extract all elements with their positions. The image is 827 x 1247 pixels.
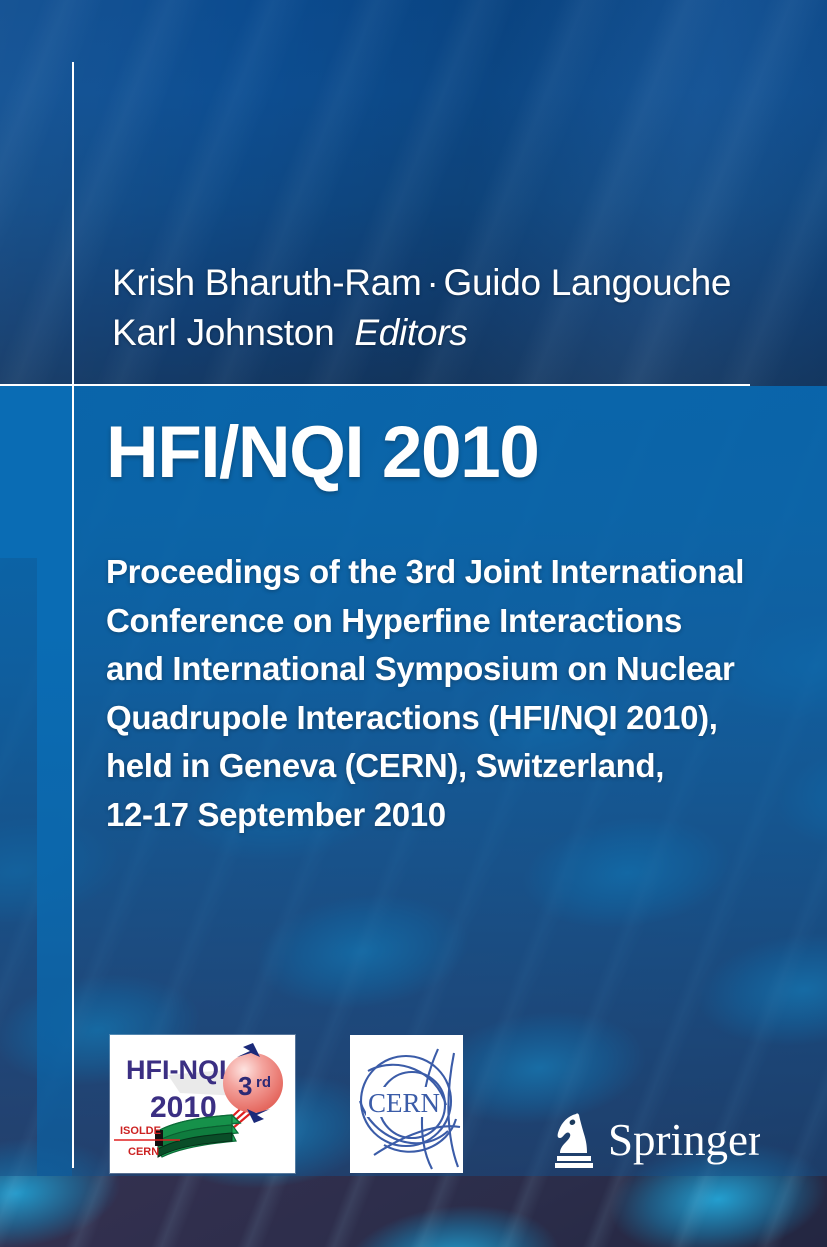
knight-chess-piece-icon bbox=[555, 1113, 593, 1168]
vertical-rule-upper bbox=[72, 62, 74, 385]
editors-line-2: Karl JohnstonEditors bbox=[112, 308, 772, 358]
subtitle-line: Proceedings of the 3rd Joint Internation… bbox=[106, 548, 806, 597]
editors-block: Krish Bharuth-Ram·Guido Langouche Karl J… bbox=[112, 258, 772, 358]
hfi-nqi-logo: HFI-NQI 2010 ISOLDE CERN bbox=[110, 1035, 295, 1173]
hfi-nqi-logo-graphic: HFI-NQI 2010 ISOLDE CERN bbox=[110, 1035, 295, 1173]
editor-name-1: Krish Bharuth-Ram bbox=[112, 262, 422, 303]
editor-name-3: Karl Johnston bbox=[112, 312, 334, 353]
cern-logo-text: CERN bbox=[368, 1088, 440, 1118]
subtitle-line: and International Symposium on Nuclear bbox=[106, 645, 806, 694]
hfi-logo-title: HFI-NQI bbox=[126, 1055, 227, 1085]
book-title: HFI/NQI 2010 bbox=[106, 413, 806, 493]
editors-separator: · bbox=[422, 262, 444, 303]
editor-name-2: Guido Langouche bbox=[444, 262, 732, 303]
hfi-logo-badge-suffix: rd bbox=[256, 1074, 271, 1091]
subtitle-line: Quadrupole Interactions (HFI/NQI 2010), bbox=[106, 694, 806, 743]
springer-logo: Springer bbox=[548, 1108, 760, 1170]
blue-panel-left-block bbox=[0, 386, 37, 558]
cern-logo-graphic: CERN bbox=[350, 1035, 463, 1173]
cern-logo: CERN bbox=[350, 1035, 463, 1173]
editors-line-1: Krish Bharuth-Ram·Guido Langouche bbox=[112, 258, 772, 308]
subtitle-line: held in Geneva (CERN), Switzerland, bbox=[106, 742, 806, 791]
blue-panel-left-column bbox=[37, 386, 72, 1176]
horizontal-rule bbox=[0, 384, 750, 386]
hfi-logo-sphere bbox=[223, 1053, 283, 1113]
subtitle-line: 12-17 September 2010 bbox=[106, 791, 806, 840]
springer-logo-graphic: Springer bbox=[548, 1108, 760, 1170]
book-cover: Krish Bharuth-Ram·Guido Langouche Karl J… bbox=[0, 0, 827, 1247]
editors-role-label: Editors bbox=[354, 312, 467, 353]
subtitle-line: Conference on Hyperfine Interactions bbox=[106, 597, 806, 646]
hfi-logo-cern-label: CERN bbox=[128, 1146, 159, 1158]
hfi-logo-badge: 3 bbox=[238, 1071, 252, 1101]
springer-wordmark: Springer bbox=[608, 1115, 760, 1165]
book-subtitle: Proceedings of the 3rd Joint Internation… bbox=[106, 548, 806, 839]
vertical-rule-lower bbox=[72, 386, 74, 1168]
hfi-logo-isolde-label: ISOLDE bbox=[120, 1125, 161, 1137]
